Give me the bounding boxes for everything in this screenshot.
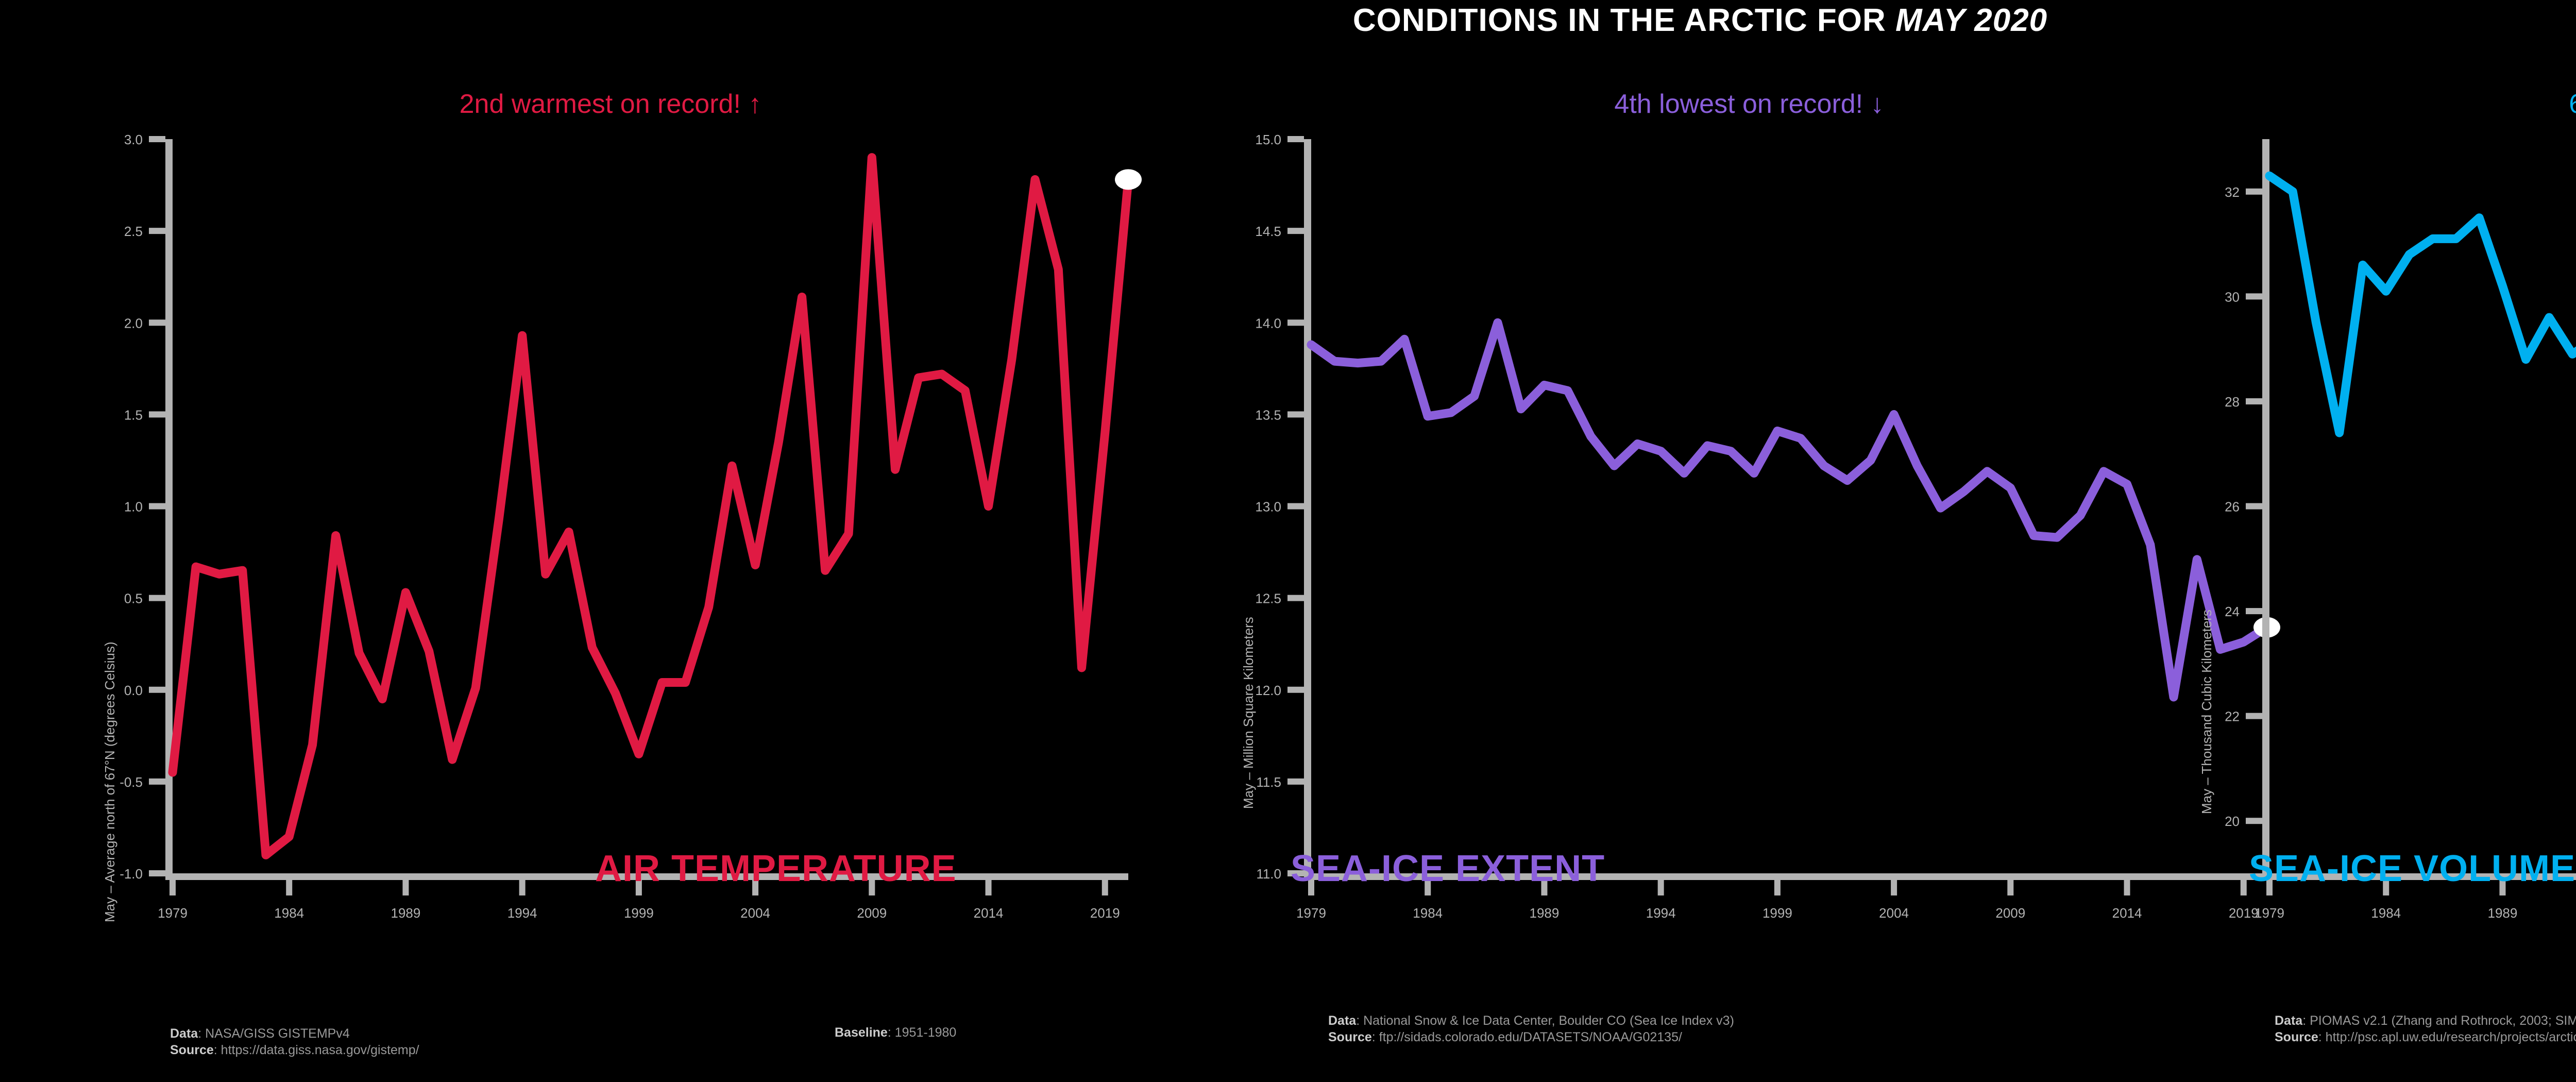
x-tick [402, 880, 409, 895]
y-axis-label-air-temperature: May – Average north of 67°N (degrees Cel… [102, 641, 118, 922]
x-tick-label: 1984 [274, 905, 304, 921]
y-tick [149, 136, 165, 142]
x-tick-label: 1994 [1646, 905, 1676, 921]
x-tick [986, 880, 992, 895]
source-label-2: Source [2275, 1030, 2318, 1044]
panel-sea-ice-volume: 6nd lowest on record! ↓ 2022242628303219… [2159, 77, 2576, 1082]
series-name-sea-ice-volume: SEA-ICE VOLUME [2249, 848, 2575, 890]
y-tick [1287, 228, 1304, 234]
footer-sea-ice-extent: Data: National Snow & Ice Data Center, B… [1328, 1012, 1734, 1045]
data-value-2: PIOMAS v2.1 (Zhang and Rothrock, 2003; S… [2310, 1013, 2576, 1028]
y-tick-label: -1.0 [120, 866, 143, 882]
data-label-2: Data [2275, 1013, 2302, 1028]
baseline-value: 1951-1980 [895, 1025, 957, 1040]
y-tick-label: 14.0 [1255, 315, 1281, 331]
y-tick [149, 228, 165, 234]
y-tick [2246, 818, 2262, 824]
y-tick-label: 14.5 [1255, 224, 1281, 239]
x-tick-label: 2014 [974, 905, 1004, 921]
y-tick-label: 24 [2225, 604, 2240, 619]
x-tick-label: 1999 [1762, 905, 1792, 921]
data-value-0: NASA/GISS GISTEMPv4 [205, 1026, 350, 1041]
y-tick [2246, 293, 2262, 299]
y-tick-label: 13.0 [1255, 499, 1281, 515]
x-tick-label: 1999 [624, 905, 654, 921]
x-tick-label: 2004 [1879, 905, 1909, 921]
y-axis-label-sea-ice-volume: May – Thousand Cubic Kilometers [2199, 610, 2215, 814]
x-tick-label: 2014 [2112, 905, 2142, 921]
y-axis-spine [2262, 139, 2269, 873]
y-tick-label: 30 [2225, 289, 2240, 305]
y-tick [1287, 136, 1304, 142]
y-tick [1287, 411, 1304, 417]
panel-subtitle-air-temperature: 2nd warmest on record! ↑ [62, 89, 1159, 120]
y-tick-label: 22 [2225, 709, 2240, 724]
y-tick [149, 319, 165, 326]
series-name-sea-ice-extent: SEA-ICE EXTENT [1291, 848, 1605, 890]
current-year-marker [1115, 169, 1142, 190]
x-tick [170, 880, 176, 895]
panel-subtitle-sea-ice-volume: 6nd lowest on record! ↓ [2159, 89, 2576, 120]
x-tick [1774, 880, 1781, 895]
panel-subtitle-sea-ice-extent: 4th lowest on record! ↓ [1200, 89, 2298, 120]
y-tick [1287, 319, 1304, 326]
x-tick-label: 1994 [507, 905, 537, 921]
footer-air-temperature: Data: NASA/GISS GISTEMPv4 Source: https:… [170, 1025, 419, 1058]
x-tick-label: 1989 [1530, 905, 1560, 921]
data-label-1: Data [1328, 1013, 1356, 1028]
y-tick-label: 11.5 [1256, 774, 1281, 790]
y-tick [2246, 713, 2262, 719]
x-tick [2007, 880, 2013, 895]
page-title-main: CONDITIONS IN THE ARCTIC FOR [1353, 3, 1895, 38]
y-tick-label: 11.0 [1256, 866, 1281, 882]
x-tick-label: 2004 [740, 905, 770, 921]
x-tick-label: 1989 [2488, 905, 2518, 921]
series-line [2269, 176, 2576, 837]
panel-sea-ice-extent: 4th lowest on record! ↓ 11.011.512.012.5… [1200, 77, 2298, 1082]
y-tick [1287, 779, 1304, 785]
y-axis-label-sea-ice-extent: May – Million Square Kilometers [1241, 617, 1257, 809]
x-tick [286, 880, 292, 895]
source-label-0: Source [170, 1043, 214, 1057]
series-line [173, 158, 1128, 855]
y-tick [2246, 503, 2262, 510]
x-tick-label: 2009 [857, 905, 887, 921]
y-tick [149, 779, 165, 785]
y-tick [1287, 687, 1304, 693]
y-tick-label: 12.0 [1255, 683, 1281, 698]
panel-air-temperature: 2nd warmest on record! ↑ -1.0-0.50.00.51… [62, 77, 1159, 1082]
y-tick-label: 0.0 [124, 683, 143, 698]
page-title: CONDITIONS IN THE ARCTIC FOR MAY 2020 [0, 2, 2576, 39]
footer-sea-ice-volume: Data: PIOMAS v2.1 (Zhang and Rothrock, 2… [2275, 1012, 2576, 1045]
page-title-month: MAY 2020 [1895, 3, 2047, 38]
y-tick [2246, 608, 2262, 614]
y-tick-label: 15.0 [1255, 132, 1281, 147]
y-axis-spine [1304, 139, 1311, 873]
x-tick-label: 1989 [391, 905, 421, 921]
arctic-conditions-figure: CONDITIONS IN THE ARCTIC FOR MAY 2020 2n… [0, 0, 2576, 1082]
y-tick-label: 2.0 [124, 315, 143, 331]
y-tick-label: 12.5 [1255, 591, 1281, 606]
y-tick-label: 32 [2225, 184, 2240, 200]
x-tick-label: 1984 [1413, 905, 1443, 921]
x-tick [519, 880, 526, 895]
y-tick-label: 28 [2225, 394, 2240, 410]
x-tick-label: 1984 [2371, 905, 2401, 921]
source-label-1: Source [1328, 1030, 1372, 1044]
x-tick-label: 1979 [158, 905, 188, 921]
y-tick-label: 1.5 [124, 407, 143, 422]
data-value-1: National Snow & Ice Data Center, Boulder… [1363, 1013, 1734, 1028]
source-value-1: ftp://sidads.colorado.edu/DATASETS/NOAA/… [1379, 1030, 1682, 1044]
y-tick [1287, 503, 1304, 510]
baseline-label: Baseline [835, 1025, 888, 1040]
x-tick-label: 2009 [1995, 905, 2025, 921]
series-line [1311, 323, 2267, 697]
y-tick [2246, 398, 2262, 404]
baseline-note: Baseline: 1951-1980 [835, 1025, 956, 1040]
y-tick-label: 2.5 [124, 224, 143, 239]
x-tick-label: 1979 [2255, 905, 2284, 921]
y-tick-label: 3.0 [124, 132, 143, 147]
y-tick-label: 1.0 [124, 499, 143, 515]
y-tick [149, 595, 165, 601]
y-tick [149, 411, 165, 417]
y-tick [2246, 189, 2262, 195]
x-tick [1102, 880, 1108, 895]
y-tick [1287, 595, 1304, 601]
x-tick-label: 1979 [1296, 905, 1326, 921]
source-value-0: https://data.giss.nasa.gov/gistemp/ [221, 1043, 419, 1057]
y-tick-label: 20 [2225, 814, 2240, 829]
x-tick [2124, 880, 2130, 895]
data-label-0: Data [170, 1026, 198, 1041]
y-tick [149, 503, 165, 510]
x-tick [1658, 880, 1664, 895]
y-tick [149, 870, 165, 876]
x-tick-label: 2019 [1090, 905, 1120, 921]
y-tick-label: 0.5 [124, 591, 143, 606]
source-value-2: http://psc.apl.uw.edu/research/projects/… [2326, 1030, 2576, 1044]
y-tick [149, 687, 165, 693]
y-tick-label: -0.5 [120, 774, 143, 790]
series-name-air-temperature: AIR TEMPERATURE [595, 848, 957, 890]
y-tick-label: 13.5 [1255, 407, 1281, 422]
x-tick [1891, 880, 1897, 895]
y-tick-label: 26 [2225, 499, 2240, 515]
